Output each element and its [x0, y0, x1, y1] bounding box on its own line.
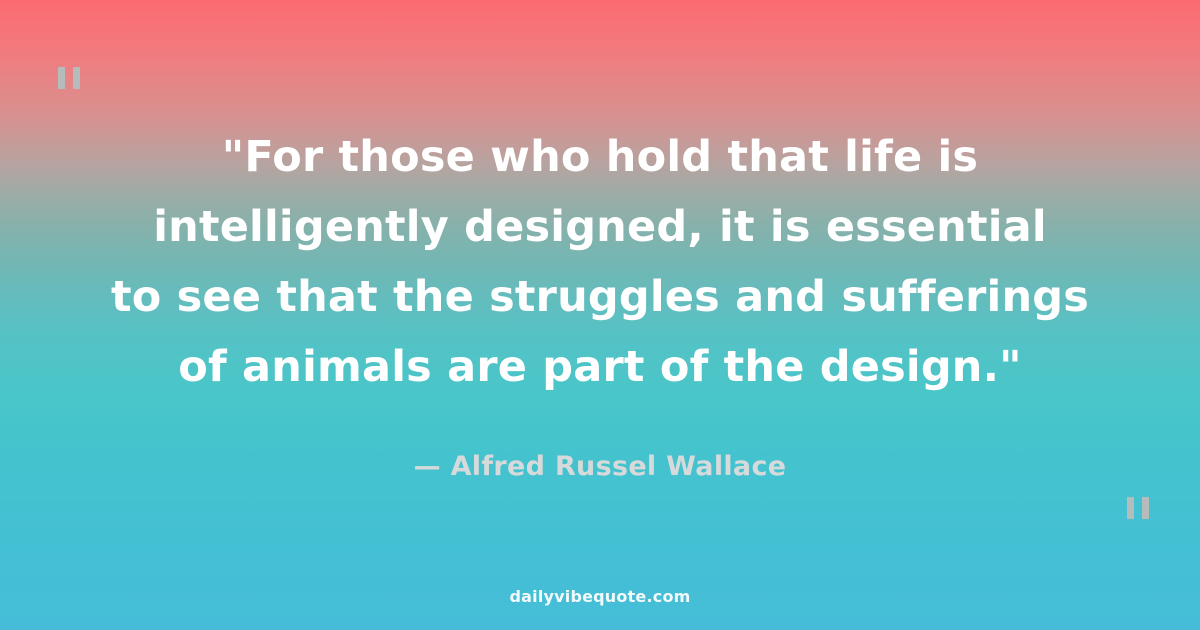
card-content: "For those who hold that life is intelli… [0, 0, 1200, 630]
quote-text: "For those who hold that life is intelli… [35, 122, 1165, 402]
quote-card: "For those who hold that life is intelli… [0, 0, 1200, 630]
quote-line: of animals are part of the design." [35, 332, 1165, 402]
quote-line: to see that the struggles and sufferings [35, 262, 1165, 332]
quote-author: — Alfred Russel Wallace [414, 450, 787, 484]
site-watermark: dailyvibequote.com [0, 587, 1200, 606]
quote-line: "For those who hold that life is [35, 122, 1165, 192]
quote-line: intelligently designed, it is essential [35, 192, 1165, 262]
